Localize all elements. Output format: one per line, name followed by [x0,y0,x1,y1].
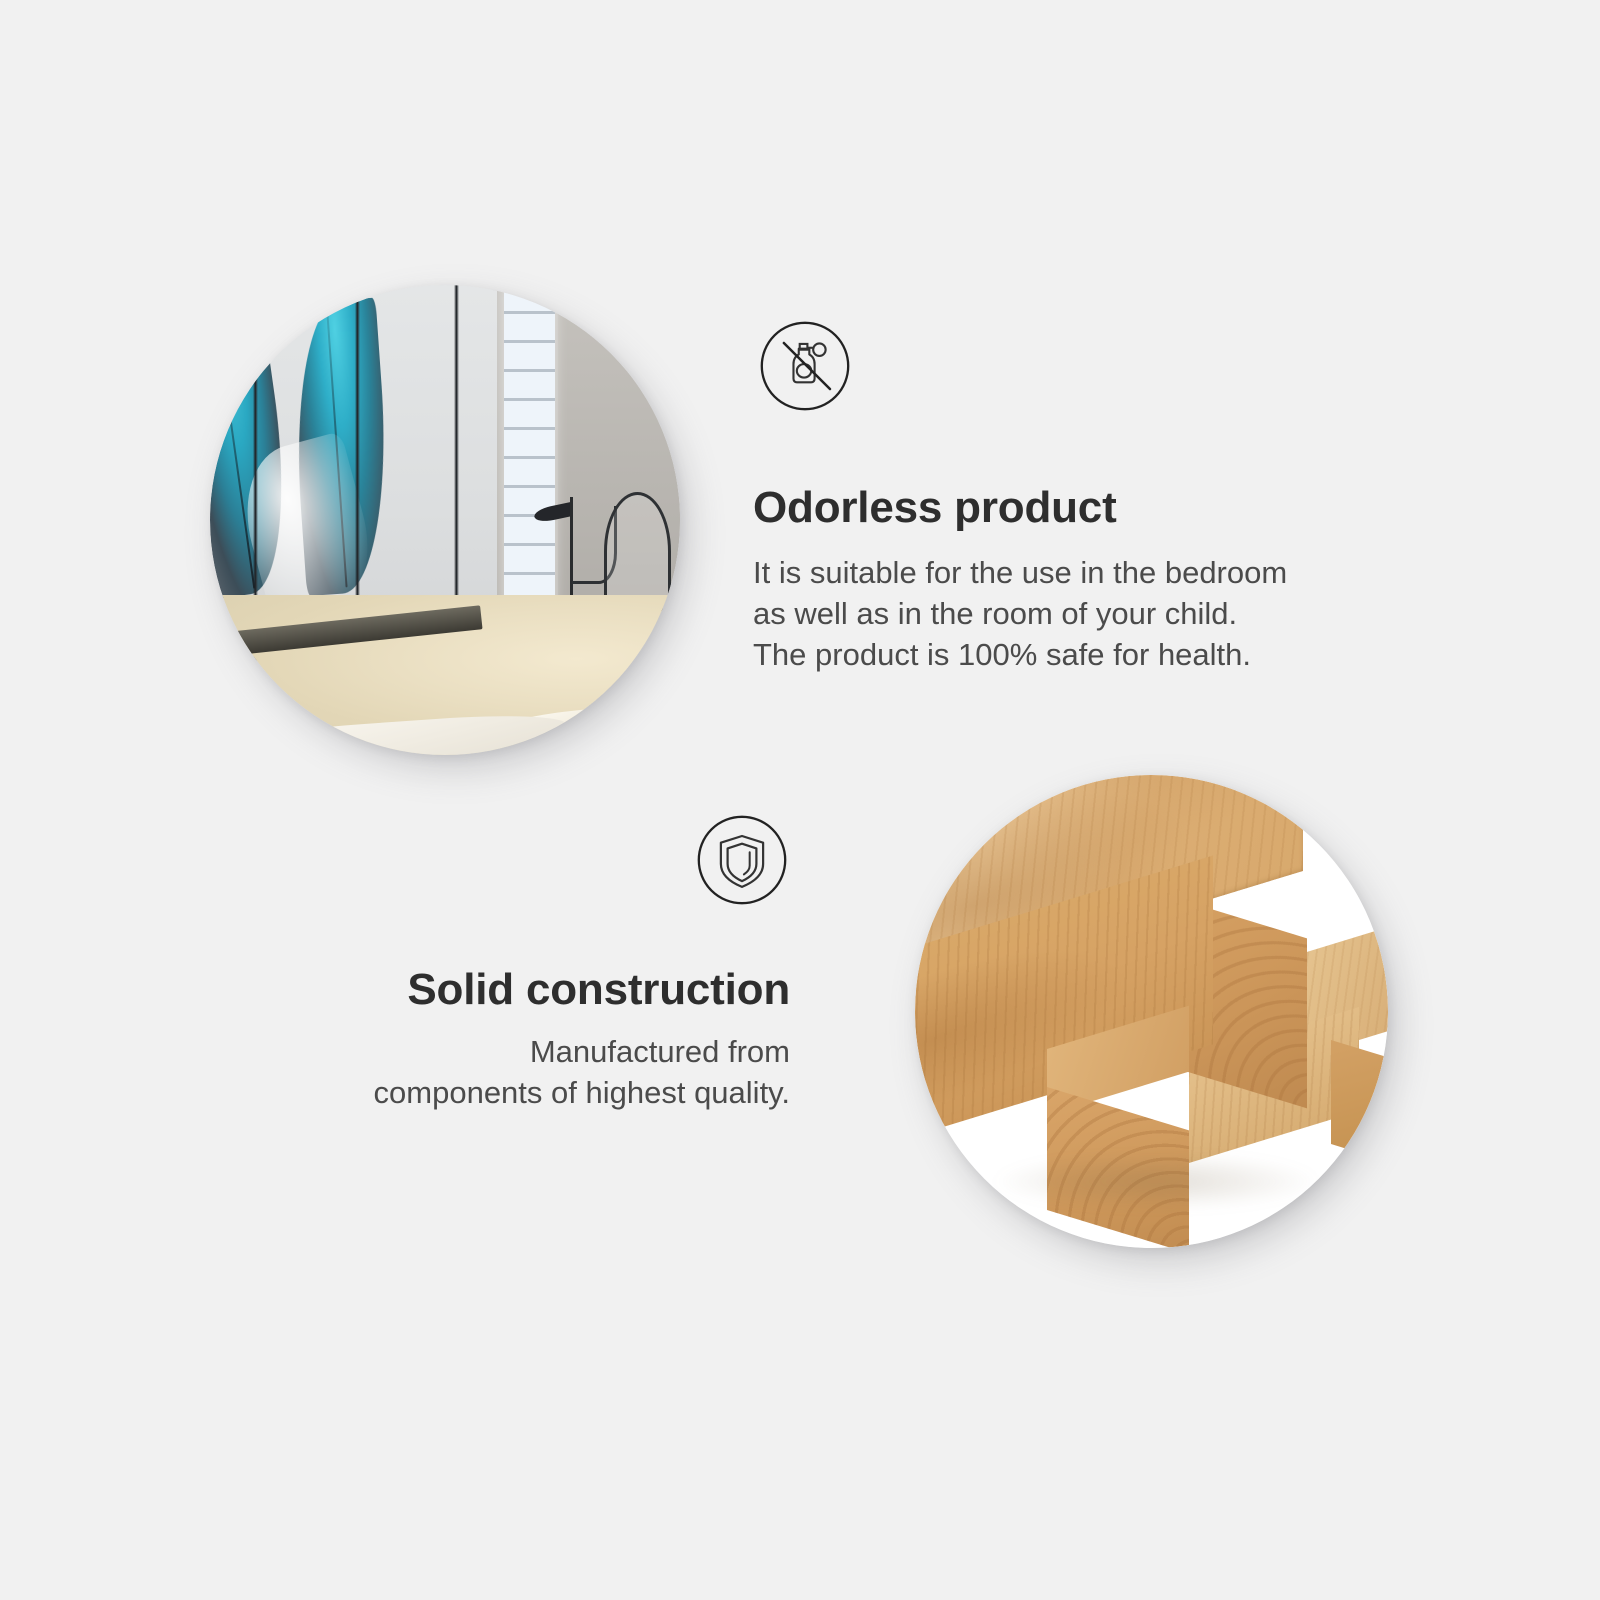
feature-title-odorless: Odorless product [753,484,1117,532]
feature-body-odorless: It is suitable for the use in the bedroo… [753,552,1287,676]
feature-body-solid: Manufactured from components of highest … [374,1031,790,1113]
bedroom-scene [210,285,680,755]
no-fragrance-icon [757,318,853,414]
wood-photo [915,775,1388,1248]
wood-plank-end [1331,1040,1388,1164]
chair [604,492,671,611]
wood-contact-shadow [991,1153,1322,1210]
wood-scene [915,775,1388,1248]
duvet [210,710,568,755]
feature-title-solid: Solid construction [407,966,790,1014]
feature-image-odorless [210,285,680,755]
bedroom-photo [210,285,680,755]
feature-image-solid [915,775,1388,1248]
infographic-canvas: Odorless product It is suitable for the … [0,0,1600,1600]
shield-icon [694,812,790,908]
